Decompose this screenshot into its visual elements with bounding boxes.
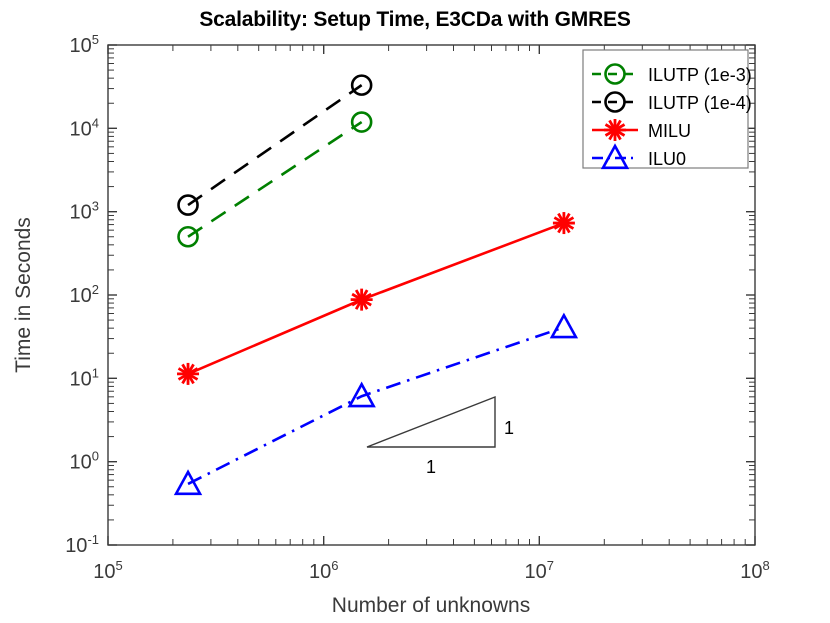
data-point-marker-asterisk bbox=[351, 289, 373, 311]
y-tick-exponent-2: 3 bbox=[92, 199, 99, 214]
svg-text:108: 108 bbox=[740, 558, 769, 583]
y-axis-tick-labels: 105 104 103 102 101 100 10-1 bbox=[65, 32, 99, 557]
svg-text:100: 100 bbox=[70, 449, 99, 474]
series-line bbox=[188, 85, 362, 205]
svg-text:102: 102 bbox=[70, 282, 99, 307]
svg-text:106: 106 bbox=[309, 558, 338, 583]
y-tick-exponent-5: 0 bbox=[92, 449, 99, 464]
x-tick-exponent-1: 6 bbox=[331, 558, 338, 573]
legend-label: MILU bbox=[648, 121, 691, 141]
figure-container: Scalability: Setup Time, E3CDa with GMRE… bbox=[0, 0, 830, 623]
svg-text:10-1: 10-1 bbox=[65, 532, 99, 557]
legend-label: ILUTP (1e-3) bbox=[648, 65, 752, 85]
data-point-marker-asterisk bbox=[177, 363, 199, 385]
series-ilu0 bbox=[176, 315, 576, 494]
series-line bbox=[188, 122, 362, 237]
svg-text:107: 107 bbox=[525, 558, 554, 583]
slope-triangle-vertical-label: 1 bbox=[504, 418, 514, 438]
y-tick-exponent-6: -1 bbox=[87, 532, 99, 547]
series-ilutp-1e-4 bbox=[179, 76, 372, 215]
scalability-log-log-plot: 105 106 107 108 105 104 103 102 101 100 … bbox=[0, 0, 830, 623]
series-ilutp-1e-3 bbox=[179, 113, 372, 247]
y-tick-exponent-4: 1 bbox=[92, 365, 99, 380]
y-axis-title: Time in Seconds bbox=[12, 217, 35, 373]
data-point-marker-asterisk bbox=[553, 212, 575, 234]
x-tick-exponent-2: 7 bbox=[547, 558, 554, 573]
y-tick-exponent-3: 2 bbox=[92, 282, 99, 297]
legend-label: ILUTP (1e-4) bbox=[648, 93, 752, 113]
svg-text:105: 105 bbox=[70, 32, 99, 57]
slope-triangle-horizontal-label: 1 bbox=[426, 457, 436, 477]
legend-label: ILU0 bbox=[648, 149, 686, 169]
y-tick-exponent-1: 4 bbox=[92, 115, 99, 130]
x-tick-exponent-0: 5 bbox=[116, 558, 123, 573]
series-line bbox=[188, 223, 564, 374]
y-tick-exponent-0: 5 bbox=[92, 32, 99, 47]
legend[interactable]: ILUTP (1e-3)ILUTP (1e-4)MILUILU0 bbox=[583, 50, 752, 169]
x-axis-tick-labels: 105 106 107 108 bbox=[93, 558, 769, 583]
x-tick-exponent-3: 8 bbox=[763, 558, 770, 573]
svg-text:104: 104 bbox=[70, 115, 99, 140]
slope-triangle-annotation: 1 1 bbox=[367, 397, 514, 477]
svg-text:105: 105 bbox=[93, 558, 122, 583]
x-axis-title: Number of unknowns bbox=[332, 594, 530, 617]
data-point-marker-triangle bbox=[552, 315, 576, 337]
data-series-layer bbox=[176, 76, 576, 494]
svg-text:101: 101 bbox=[70, 365, 99, 390]
svg-text:103: 103 bbox=[70, 199, 99, 224]
series-milu bbox=[177, 212, 575, 385]
